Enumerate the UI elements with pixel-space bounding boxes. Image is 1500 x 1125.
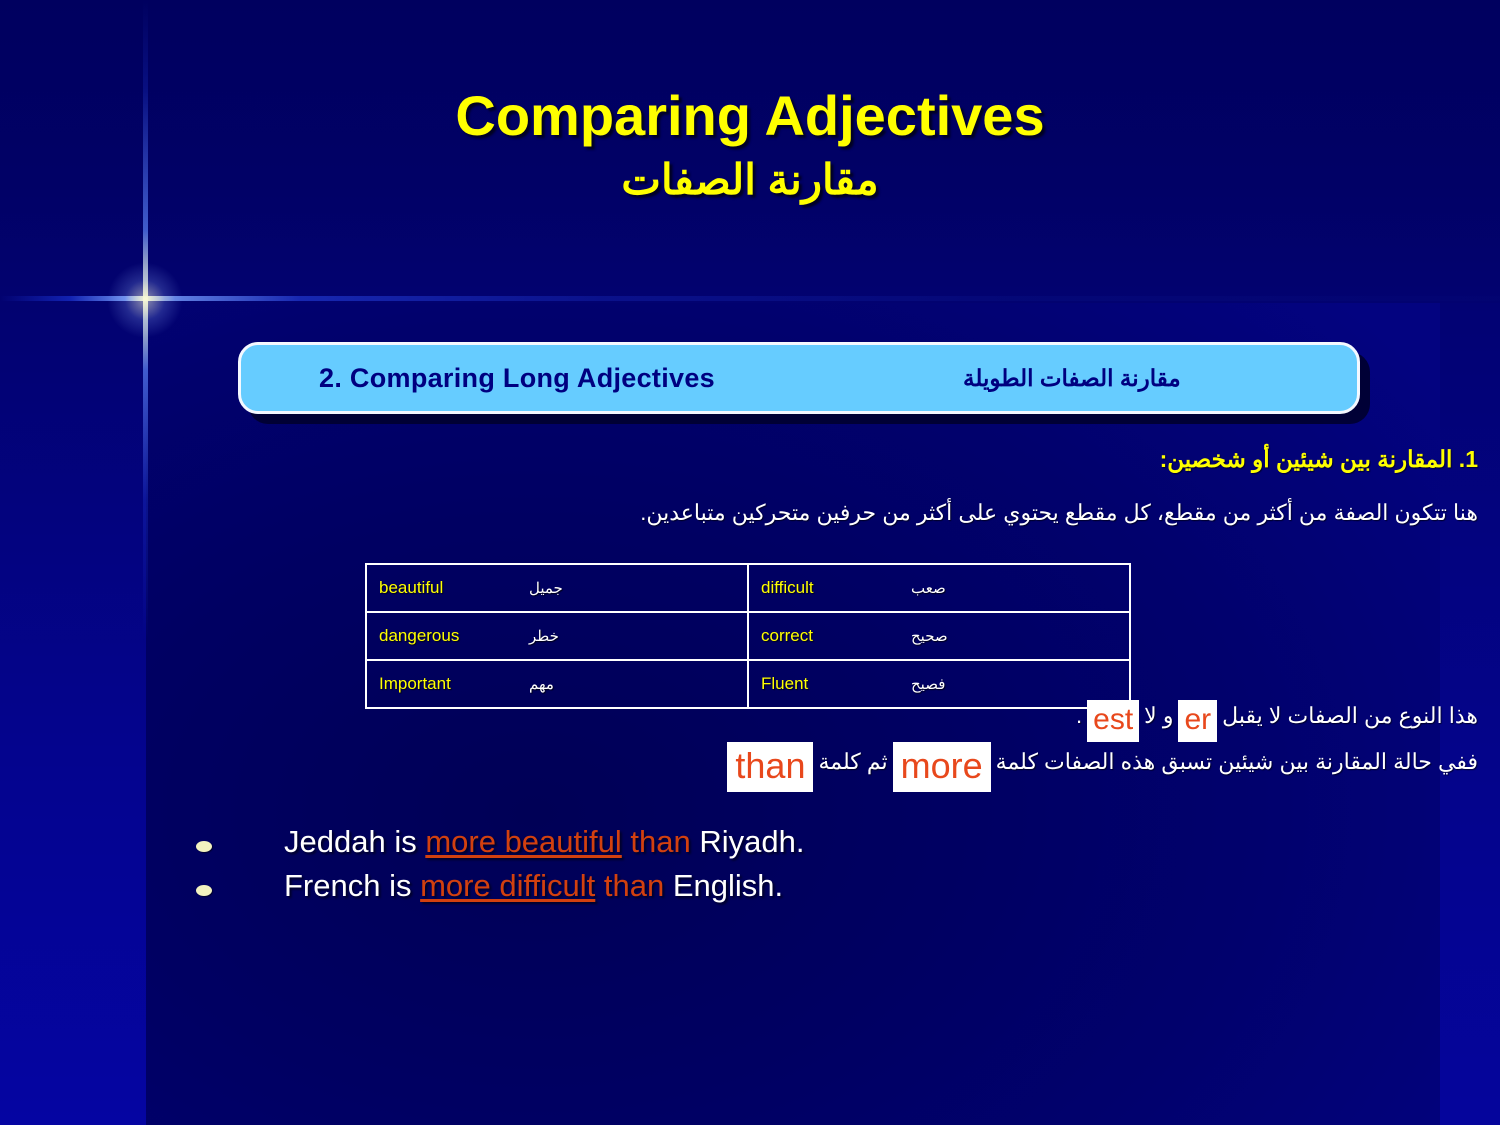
example-highlight-underlined: more beautiful bbox=[425, 824, 621, 859]
example-post: English. bbox=[673, 868, 783, 903]
adjective-english: correct bbox=[761, 626, 911, 646]
example-pre: Jeddah is bbox=[284, 824, 425, 859]
example-pre: French is bbox=[284, 868, 420, 903]
adjective-arabic: صحيح bbox=[911, 628, 948, 645]
rule-line-two-pre: ففي حالة المقارنة بين شيئين تسبق هذه الص… bbox=[996, 749, 1478, 774]
slide-title-english: Comparing Adjectives bbox=[0, 88, 1500, 144]
list-item: French is more difficult than English. bbox=[196, 868, 1296, 912]
example-highlight: than bbox=[622, 824, 700, 859]
decorative-star-glow-icon bbox=[108, 263, 182, 337]
adjective-english: Fluent bbox=[761, 674, 911, 694]
table-cell-right: difficultصعب bbox=[748, 564, 1130, 612]
chip-word-than: than bbox=[727, 742, 813, 792]
slide-title-block: Comparing Adjectives مقارنة الصفات bbox=[0, 88, 1500, 202]
adjective-arabic: فصيح bbox=[911, 676, 945, 693]
bullet-icon bbox=[196, 885, 212, 896]
presentation-slide: Comparing Adjectives مقارنة الصفات 2. Co… bbox=[0, 0, 1500, 1125]
table-cell-right: correctصحيح bbox=[748, 612, 1130, 660]
section-banner-label-arabic: مقارنة الصفات الطويلة bbox=[963, 365, 1181, 392]
adjective-arabic: صعب bbox=[911, 580, 946, 597]
adjective-arabic: خطر bbox=[529, 628, 559, 645]
example-highlight-underlined: more difficult bbox=[420, 868, 595, 903]
section-banner-label-english: 2. Comparing Long Adjectives bbox=[319, 363, 715, 394]
chip-suffix-est: est bbox=[1087, 700, 1139, 742]
rule-line-two-mid: ثم كلمة bbox=[818, 749, 887, 774]
table-row: dangerousخطر correctصحيح bbox=[366, 612, 1130, 660]
rule-line-two: ففي حالة المقارنة بين شيئين تسبق هذه الص… bbox=[58, 742, 1478, 792]
example-sentence: French is more difficult than English. bbox=[284, 868, 783, 904]
list-item: Jeddah is more beautiful than Riyadh. bbox=[196, 824, 1296, 868]
adjective-english: dangerous bbox=[379, 626, 529, 646]
adjective-arabic: جميل bbox=[529, 580, 563, 597]
adjective-english: beautiful bbox=[379, 578, 529, 598]
decorative-horizontal-beam bbox=[0, 296, 1500, 301]
rule-line-one: هذا النوع من الصفات لا يقبلerو لاest. bbox=[58, 700, 1478, 742]
table-cell-left: dangerousخطر bbox=[366, 612, 748, 660]
chip-suffix-er: er bbox=[1178, 700, 1217, 742]
table-row: beautifulجميل difficultصعب bbox=[366, 564, 1130, 612]
adjective-english: Important bbox=[379, 674, 529, 694]
adjective-arabic: مهم bbox=[529, 676, 554, 693]
bullet-icon bbox=[196, 841, 212, 852]
example-highlight: than bbox=[595, 868, 673, 903]
section-banner: 2. Comparing Long Adjectives مقارنة الصف… bbox=[238, 342, 1360, 414]
example-list: Jeddah is more beautiful than Riyadh. Fr… bbox=[196, 824, 1296, 912]
rule-line-one-mid: و لا bbox=[1144, 703, 1173, 728]
chip-word-more: more bbox=[893, 742, 991, 792]
example-post: Riyadh. bbox=[699, 824, 804, 859]
body-subtext-arabic: هنا تتكون الصفة من أكثر من مقطع، كل مقطع… bbox=[78, 500, 1478, 526]
rule-line-one-post: . bbox=[1076, 703, 1082, 728]
table-cell-left: beautifulجميل bbox=[366, 564, 748, 612]
example-sentence: Jeddah is more beautiful than Riyadh. bbox=[284, 824, 804, 860]
adjective-table: beautifulجميل difficultصعب dangerousخطر … bbox=[365, 563, 1131, 709]
slide-title-arabic: مقارنة الصفات bbox=[0, 158, 1500, 202]
body-heading-arabic: 1. المقارنة بين شيئين أو شخصين: bbox=[78, 446, 1478, 473]
adjective-english: difficult bbox=[761, 578, 911, 598]
rule-line-one-pre: هذا النوع من الصفات لا يقبل bbox=[1222, 703, 1478, 728]
